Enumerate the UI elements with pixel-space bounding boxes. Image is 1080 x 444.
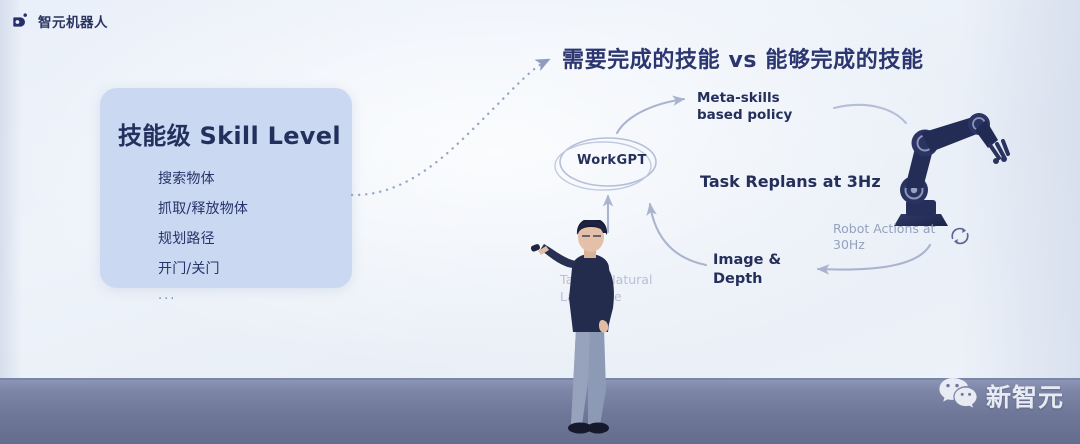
list-item: 开门/关门 <box>158 258 378 278</box>
meta-skills-label: Meta-skills based policy <box>697 90 822 125</box>
list-item: 抓取/释放物体 <box>158 198 378 218</box>
task-replans-label: Task Replans at 3Hz <box>700 172 881 192</box>
page-title: 需要完成的技能 vs 能够完成的技能 <box>562 42 924 74</box>
list-item: 搜索物体 <box>158 168 378 188</box>
skill-card-list: 搜索物体 抓取/释放物体 规划路径 开门/关门 ... <box>118 168 378 313</box>
watermark: 新智元 <box>938 376 1064 415</box>
slide-stage: 智元机器人 技能级 Skill Level 搜索物体 抓取/释放物体 规划路径 … <box>0 0 1080 444</box>
wall-edge-left <box>0 0 22 378</box>
list-item-ellipsis: ... <box>158 288 378 303</box>
wechat-icon <box>938 376 978 415</box>
watermark-text: 新智元 <box>986 378 1064 414</box>
agibot-logo-icon <box>12 12 31 31</box>
brand-name: 智元机器人 <box>38 11 108 31</box>
robot-actions-label: Robot Actions at 30Hz <box>833 221 948 254</box>
skill-card-title: 技能级 Skill Level <box>118 116 341 151</box>
brand-logo: 智元机器人 <box>12 11 108 31</box>
presenter-person <box>530 220 650 435</box>
list-item: 规划路径 <box>158 228 378 248</box>
workgpt-node-label: WorkGPT <box>577 153 647 170</box>
wall-edge-right <box>960 0 1080 378</box>
image-depth-label: Image & Depth <box>713 251 805 288</box>
